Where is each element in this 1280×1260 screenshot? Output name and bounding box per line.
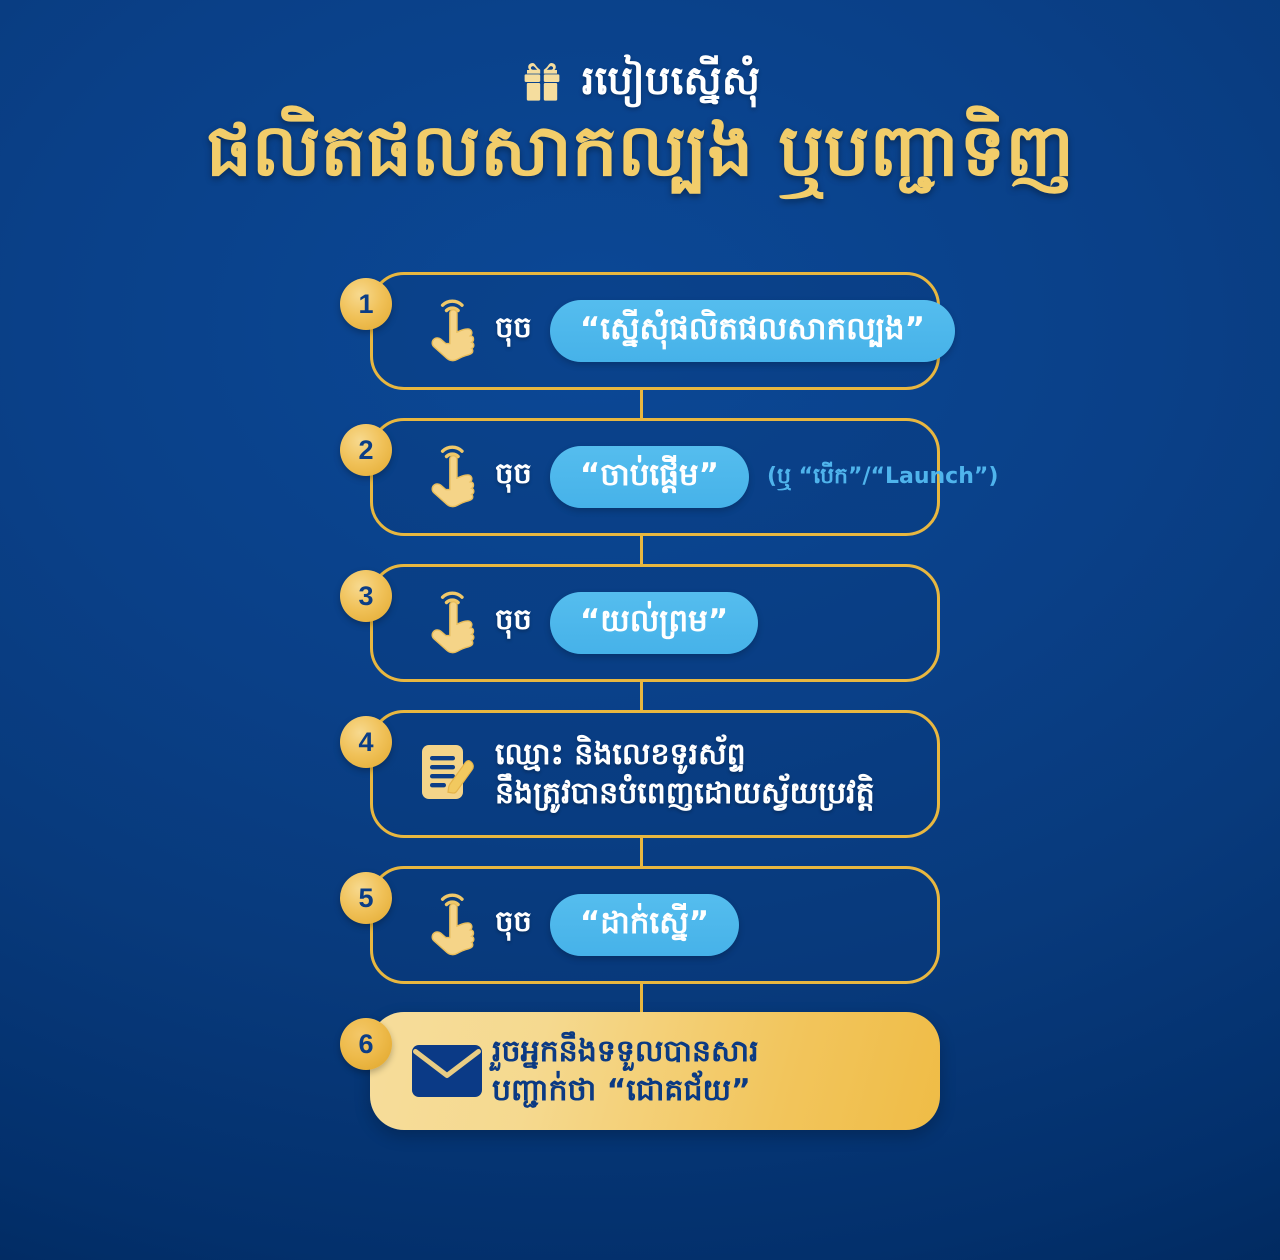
step-card-1[interactable]: ចុច “ស្នើសុំផលិតផលសាកល្បង” (370, 272, 940, 390)
step-verb-3: ចុច (495, 602, 532, 644)
step-content-3: ចុច “យល់ព្រម” (495, 592, 919, 654)
step-text-6: រួចអ្នកនឹងទទួលបានសារ បញ្ជាក់ថា “ជោគជ័យ” (492, 1032, 759, 1110)
page-title: ផលិតផលសាកល្បង ឬបញ្ជាទិញ (0, 110, 1280, 191)
step-card-4[interactable]: ឈ្មោះ និងលេខទូរស័ព្ទ នឹងត្រូវបានបំពេញដោយ… (370, 710, 940, 838)
step-verb-5: ចុច (495, 904, 532, 946)
connector-4-5 (640, 838, 643, 866)
infographic-canvas: របៀបស្នើសុំ ផលិតផលសាកល្បង ឬបញ្ជាទិញ (0, 0, 1280, 1260)
tap-hand-icon (411, 289, 489, 373)
step-verb-2: ចុច (495, 456, 532, 498)
step-content-6: រួចអ្នកនឹងទទួលបានសារ បញ្ជាក់ថា “ជោគជ័យ” (492, 1032, 922, 1110)
step-badge-5: 5 (340, 872, 392, 924)
step-card-2[interactable]: ចុច “ចាប់ផ្ដើម” (ឬ “បើក”/“Launch”) (370, 418, 940, 536)
step-verb-1: ចុច (495, 310, 532, 352)
step-item-6[interactable]: រួចអ្នកនឹងទទួលបានសារ បញ្ជាក់ថា “ជោគជ័យ” … (340, 1012, 940, 1130)
step-text-4-line2: នឹងត្រូវបានបំពេញដោយស្វ័យប្រវត្តិ (495, 774, 875, 813)
tap-hand-icon (411, 883, 489, 967)
step-item-4[interactable]: ឈ្មោះ និងលេខទូរស័ព្ទ នឹងត្រូវបានបំពេញដោយ… (340, 710, 940, 838)
step-text-6-line1: រួចអ្នកនឹងទទួលបានសារ (492, 1032, 759, 1071)
connector-5-6 (640, 984, 643, 1012)
step-card-5[interactable]: ចុច “ដាក់ស្នើ” (370, 866, 940, 984)
step-card-6[interactable]: រួចអ្នកនឹងទទួលបានសារ បញ្ជាក់ថា “ជោគជ័យ” (370, 1012, 940, 1130)
header: របៀបស្នើសុំ ផលិតផលសាកល្បង ឬបញ្ជាទិញ (0, 58, 1280, 191)
step-text-4: ឈ្មោះ និងលេខទូរស័ព្ទ នឹងត្រូវបានបំពេញដោយ… (495, 735, 875, 813)
step-badge-1: 1 (340, 278, 392, 330)
step-item-2[interactable]: ចុច “ចាប់ផ្ដើម” (ឬ “បើក”/“Launch”) 2 (340, 418, 940, 536)
connector-2-3 (640, 536, 643, 564)
header-kicker-text: របៀបស្នើសុំ (582, 58, 760, 104)
document-pencil-icon (411, 732, 489, 816)
step-item-3[interactable]: ចុច “យល់ព្រម” 3 (340, 564, 940, 682)
steps-list: ចុច “ស្នើសុំផលិតផលសាកល្បង” 1 (0, 272, 1280, 1130)
header-kicker-row: របៀបស្នើសុំ (0, 58, 1280, 104)
step-pill-5[interactable]: “ដាក់ស្នើ” (550, 894, 739, 956)
step-pill-3[interactable]: “យល់ព្រម” (550, 592, 758, 654)
step-item-1[interactable]: ចុច “ស្នើសុំផលិតផលសាកល្បង” 1 (340, 272, 940, 390)
step-content-4: ឈ្មោះ និងលេខទូរស័ព្ទ នឹងត្រូវបានបំពេញដោយ… (495, 735, 919, 813)
connector-1-2 (640, 390, 643, 418)
tap-hand-icon (411, 581, 489, 665)
step-content-2: ចុច “ចាប់ផ្ដើម” (ឬ “បើក”/“Launch”) (495, 446, 919, 508)
step-content-5: ចុច “ដាក់ស្នើ” (495, 894, 919, 956)
step-note-2: (ឬ “បើក”/“Launch”) (767, 464, 998, 489)
step-text-6-line2: បញ្ជាក់ថា “ជោគជ័យ” (492, 1071, 759, 1110)
envelope-icon (408, 1029, 486, 1113)
step-item-5[interactable]: ចុច “ដាក់ស្នើ” 5 (340, 866, 940, 984)
step-card-3[interactable]: ចុច “យល់ព្រម” (370, 564, 940, 682)
connector-3-4 (640, 682, 643, 710)
step-badge-2: 2 (340, 424, 392, 476)
step-badge-4: 4 (340, 716, 392, 768)
step-badge-3: 3 (340, 570, 392, 622)
step-pill-2[interactable]: “ចាប់ផ្ដើម” (550, 446, 749, 508)
step-content-1: ចុច “ស្នើសុំផលិតផលសាកល្បង” (495, 300, 919, 362)
step-badge-6: 6 (340, 1018, 392, 1070)
tap-hand-icon (411, 435, 489, 519)
gift-icon (520, 60, 564, 104)
step-text-4-line1: ឈ្មោះ និងលេខទូរស័ព្ទ (495, 735, 875, 774)
step-pill-1[interactable]: “ស្នើសុំផលិតផលសាកល្បង” (550, 300, 955, 362)
